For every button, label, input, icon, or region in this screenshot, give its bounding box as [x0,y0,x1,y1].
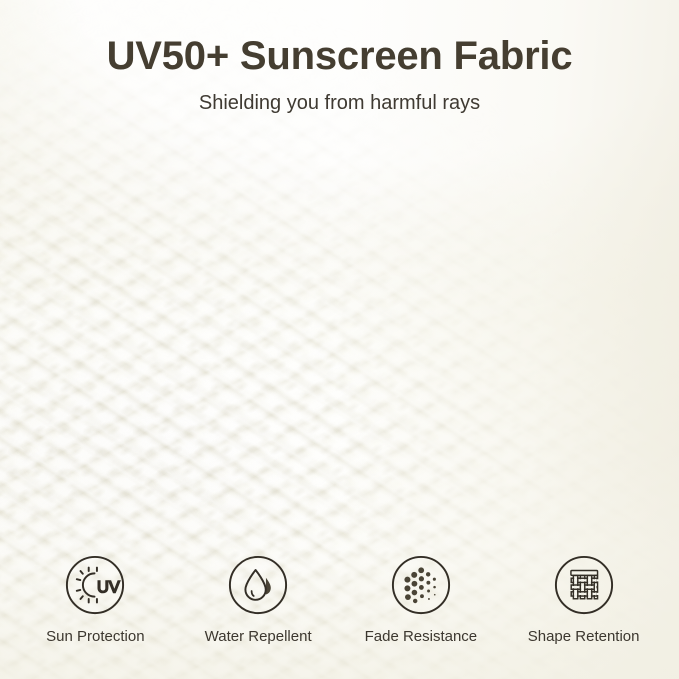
feature-water-repellent: Water Repellent [177,554,340,645]
feature-label: Water Repellent [205,628,312,645]
fading-dots-icon [390,554,452,616]
feature-fade-resistance: Fade Resistance [340,554,503,645]
product-feature-banner: UV50+ Sunscreen Fabric Shielding you fro… [0,0,679,679]
sun-uv-icon: UV [64,554,126,616]
page-subtitle: Shielding you from harmful rays [0,91,679,115]
page-title: UV50+ Sunscreen Fabric [0,34,679,78]
feature-list: UV Sun Protection Water Repellent [0,554,679,645]
header-block: UV50+ Sunscreen Fabric Shielding you fro… [0,34,679,115]
feature-shape-retention: Shape Retention [502,554,665,645]
feature-sun-protection: UV Sun Protection [14,554,177,645]
feature-label: Fade Resistance [365,628,478,645]
woven-fabric-icon [553,554,615,616]
water-droplet-icon [227,554,289,616]
svg-text:UV: UV [97,578,120,596]
feature-label: Sun Protection [46,628,144,645]
feature-label: Shape Retention [528,628,640,645]
